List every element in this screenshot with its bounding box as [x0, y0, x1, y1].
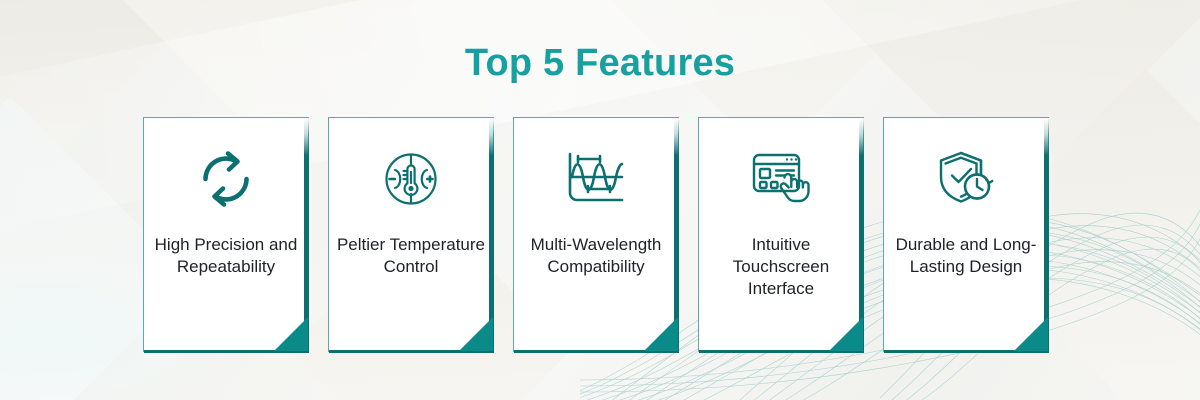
feature-card-label: Intuitive Touchscreen Interface: [699, 234, 863, 300]
feature-card-label: Durable and Long-Lasting Design: [884, 234, 1048, 278]
feature-card-label: Peltier Temperature Control: [329, 234, 493, 278]
sync-arrows-icon: [197, 148, 255, 210]
corner-accent-triangle: [459, 317, 493, 351]
thermometer-circle-icon: [382, 148, 440, 210]
touchscreen-hand-icon: [751, 148, 811, 210]
shield-check-clock-icon: [936, 148, 996, 210]
waveform-chart-icon: [566, 148, 626, 210]
feature-card-peltier-temperature[interactable]: Peltier Temperature Control: [328, 117, 494, 352]
corner-accent-triangle: [829, 317, 863, 351]
feature-card-durable-design[interactable]: Durable and Long-Lasting Design: [883, 117, 1049, 352]
feature-card-label: Multi-Wavelength Compatibility: [514, 234, 678, 278]
feature-card-label: High Precision and Repeatability: [144, 234, 308, 278]
corner-accent-triangle: [1014, 317, 1048, 351]
feature-card-high-precision[interactable]: High Precision and Repeatability: [143, 117, 309, 352]
feature-card-list: High Precision and Repeatability Peltier…: [143, 117, 1063, 352]
corner-accent-triangle: [274, 317, 308, 351]
page-title: Top 5 Features: [0, 42, 1200, 85]
feature-card-touchscreen-interface[interactable]: Intuitive Touchscreen Interface: [698, 117, 864, 352]
feature-card-multi-wavelength[interactable]: Multi-Wavelength Compatibility: [513, 117, 679, 352]
corner-accent-triangle: [644, 317, 678, 351]
